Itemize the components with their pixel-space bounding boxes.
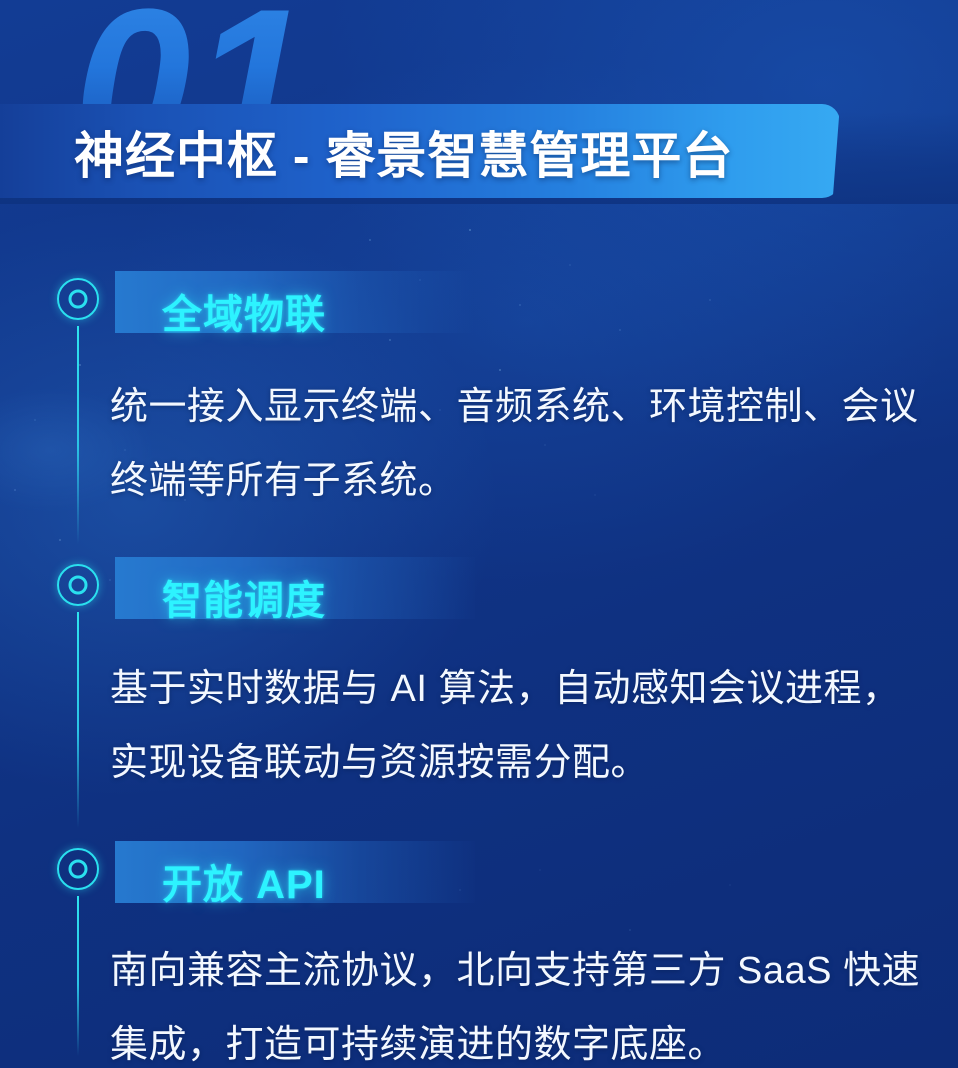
timeline-connector-1 <box>77 326 79 544</box>
ring-icon <box>57 278 99 320</box>
feature-body-2: 基于实时数据与 AI 算法，自动感知会议进程，实现设备联动与资源按需分配。 <box>110 652 930 800</box>
feature-label-1: 全域物联 <box>162 282 326 340</box>
ring-icon <box>57 848 99 890</box>
feature-label-2: 智能调度 <box>162 568 326 626</box>
feature-body-1: 统一接入显示终端、音频系统、环境控制、会议终端等所有子系统。 <box>110 370 930 518</box>
slide-canvas: 01 神经中枢 - 睿景智慧管理平台 全域物联 统一接入显示终端、音频系统、环境… <box>0 0 958 1068</box>
feature-body-3: 南向兼容主流协议，北向支持第三方 SaaS 快速集成，打造可持续演进的数字底座。 <box>110 934 930 1068</box>
feature-label-3: 开放 API <box>162 852 326 910</box>
page-title: 神经中枢 - 睿景智慧管理平台 <box>74 116 733 188</box>
timeline-connector-3 <box>77 896 79 1056</box>
ring-icon <box>57 564 99 606</box>
timeline-connector-2 <box>77 612 79 828</box>
